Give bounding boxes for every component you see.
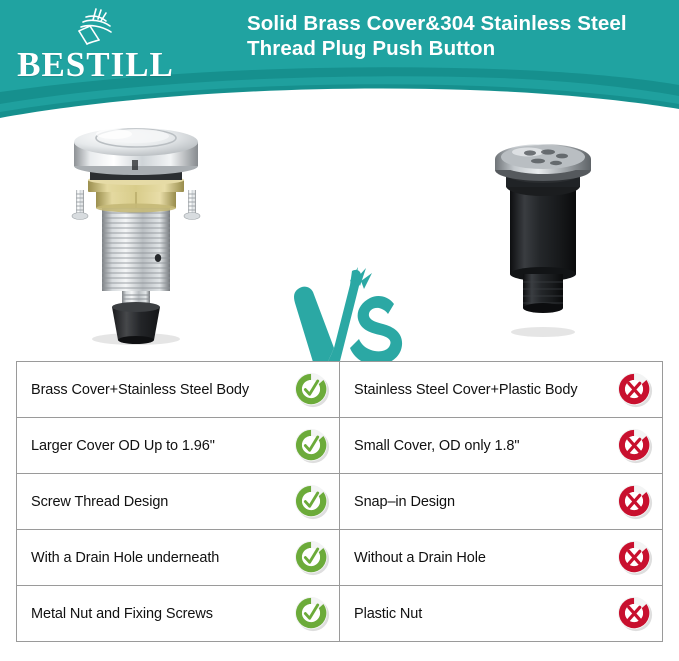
con-cell: Snap–in Design bbox=[340, 474, 663, 530]
con-text: Stainless Steel Cover+Plastic Body bbox=[354, 381, 577, 399]
con-cell: Stainless Steel Cover+Plastic Body bbox=[340, 362, 663, 418]
green-check-badge-icon bbox=[293, 427, 331, 465]
product-image-right bbox=[468, 126, 618, 341]
pro-cell: Metal Nut and Fixing Screws bbox=[17, 586, 340, 642]
header-title: Solid Brass Cover&304 Stainless Steel Th… bbox=[247, 11, 672, 61]
comparison-table: Brass Cover+Stainless Steel Body Stainle… bbox=[16, 361, 663, 642]
brand-logo: BESTILL bbox=[8, 6, 183, 92]
red-x-badge-icon bbox=[616, 483, 654, 521]
green-check-badge-icon bbox=[293, 483, 331, 521]
pro-text: With a Drain Hole underneath bbox=[31, 549, 219, 567]
pro-text: Metal Nut and Fixing Screws bbox=[31, 605, 213, 623]
red-x-badge-icon bbox=[616, 371, 654, 409]
table-row: With a Drain Hole underneath Without a D… bbox=[17, 530, 663, 586]
con-cell: Small Cover, OD only 1.8" bbox=[340, 418, 663, 474]
pro-cell: Brass Cover+Stainless Steel Body bbox=[17, 362, 340, 418]
pro-cell: Screw Thread Design bbox=[17, 474, 340, 530]
pro-text: Screw Thread Design bbox=[31, 493, 168, 511]
table-row: Screw Thread Design Snap–in Design bbox=[17, 474, 663, 530]
faucet-water-icon bbox=[66, 6, 126, 48]
con-text: Without a Drain Hole bbox=[354, 549, 486, 567]
con-text: Small Cover, OD only 1.8" bbox=[354, 437, 519, 455]
brand-wordmark: BESTILL bbox=[17, 46, 174, 84]
table-row: Metal Nut and Fixing Screws Plastic Nut bbox=[17, 586, 663, 642]
red-x-badge-icon bbox=[616, 595, 654, 633]
pro-cell: With a Drain Hole underneath bbox=[17, 530, 340, 586]
product-image-left bbox=[46, 108, 226, 348]
title-line-1: Solid Brass Cover&304 Stainless Steel bbox=[247, 11, 672, 36]
red-x-badge-icon bbox=[616, 539, 654, 577]
vs-brush-mark bbox=[282, 265, 407, 375]
table-row: Brass Cover+Stainless Steel Body Stainle… bbox=[17, 362, 663, 418]
pro-text: Larger Cover OD Up to 1.96" bbox=[31, 437, 215, 455]
con-cell: Without a Drain Hole bbox=[340, 530, 663, 586]
con-cell: Plastic Nut bbox=[340, 586, 663, 642]
con-text: Plastic Nut bbox=[354, 605, 422, 623]
green-check-badge-icon bbox=[293, 595, 331, 633]
green-check-badge-icon bbox=[293, 371, 331, 409]
pro-cell: Larger Cover OD Up to 1.96" bbox=[17, 418, 340, 474]
con-text: Snap–in Design bbox=[354, 493, 455, 511]
green-check-badge-icon bbox=[293, 539, 331, 577]
title-line-2: Thread Plug Push Button bbox=[247, 36, 672, 61]
red-x-badge-icon bbox=[616, 427, 654, 465]
pro-text: Brass Cover+Stainless Steel Body bbox=[31, 381, 249, 399]
table-row: Larger Cover OD Up to 1.96" Small Cover,… bbox=[17, 418, 663, 474]
product-comparison-images bbox=[0, 100, 679, 355]
